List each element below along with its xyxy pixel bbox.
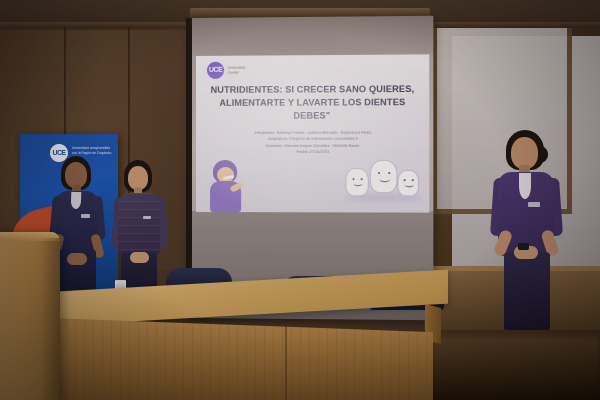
legs bbox=[504, 252, 550, 330]
clasped-hands bbox=[130, 252, 149, 263]
podium-shading bbox=[40, 238, 60, 400]
slide-title: NUTRIDIENTES: SI CRECER SANO QUIERES, AL… bbox=[210, 83, 415, 123]
clasped-hands bbox=[67, 253, 87, 265]
quilted-texture bbox=[118, 193, 160, 255]
logo-letters: UCE bbox=[207, 62, 224, 79]
tooth-eye bbox=[378, 172, 380, 174]
banner-tagline: Universidad comprometida con la Región d… bbox=[72, 146, 114, 156]
slide-logo-text: Universidad Central bbox=[228, 66, 245, 75]
presenter-right bbox=[492, 130, 564, 330]
v-neck-undershirt bbox=[519, 173, 531, 199]
projected-slide: UCE Universidad Central NUTRIDIENTES: SI… bbox=[196, 54, 429, 212]
tooth-smile bbox=[405, 182, 414, 187]
slide-meta-line: Fecha: 27/11/2023 bbox=[222, 149, 405, 156]
tooth-eye bbox=[388, 172, 390, 174]
name-badge bbox=[528, 202, 540, 207]
tooth-smile bbox=[353, 181, 362, 186]
tooth-smile bbox=[379, 176, 390, 182]
child-brushing-teeth-illustration bbox=[208, 160, 246, 212]
slide-logo: UCE Universidad Central bbox=[207, 62, 245, 79]
table-panel-seam bbox=[285, 322, 287, 400]
tooth-character-icon bbox=[370, 160, 398, 193]
presentation-photo: UCE Universidad Central NUTRIDIENTES: SI… bbox=[0, 0, 600, 400]
floor-reflection bbox=[430, 336, 600, 400]
name-badge bbox=[143, 216, 151, 219]
tooth-character-icon bbox=[345, 168, 368, 196]
presentation-clicker[interactable] bbox=[518, 243, 529, 250]
uce-logo-icon: UCE bbox=[207, 62, 224, 79]
slide-metadata: Integrantes: Britanny Fredes - Isadora M… bbox=[222, 129, 405, 155]
screen-blank-area bbox=[192, 16, 433, 56]
name-badge bbox=[81, 214, 90, 218]
tooth-character-icon bbox=[397, 170, 419, 196]
table-wood-grain bbox=[48, 318, 433, 400]
